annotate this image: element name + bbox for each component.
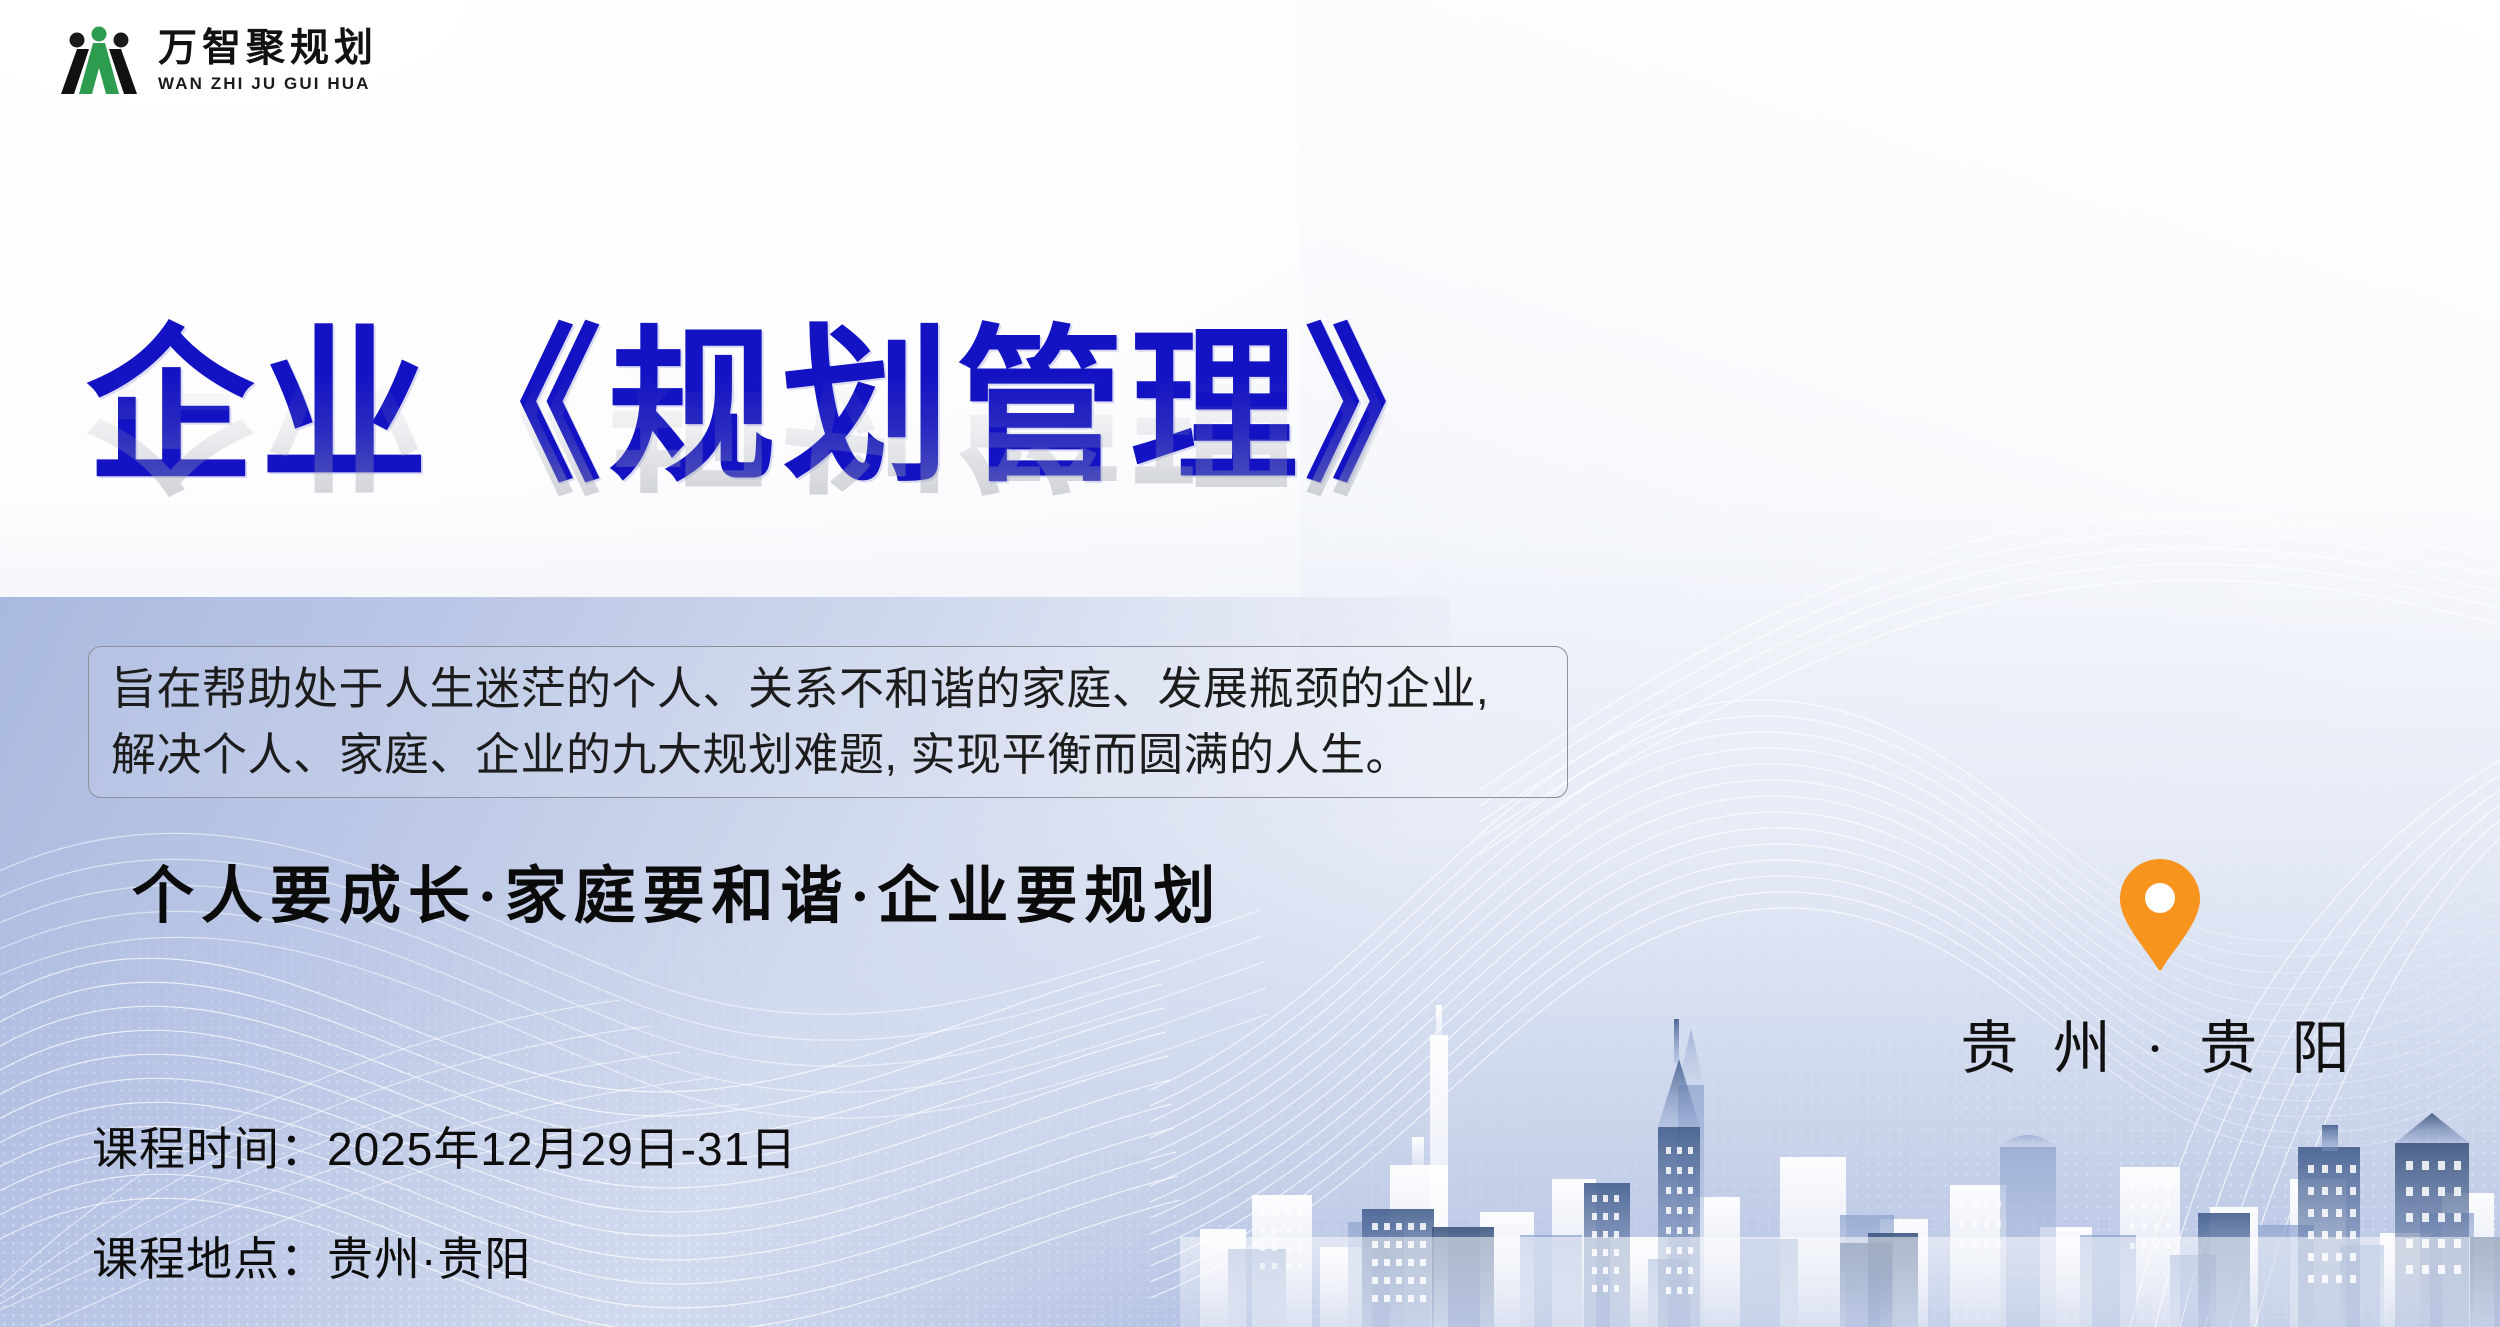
slogan-text: 个人要成长·家庭要和谐·企业要规划: [132, 845, 1222, 935]
course-info-block: 课程时间：2025年12月29日-31日 课程地点：贵州·贵阳: [92, 1113, 797, 1289]
map-pin-icon: [2115, 855, 2205, 973]
page-title-reflection: 企业《规划管理》: [86, 320, 1646, 498]
brand-name-cn: 万智聚规划: [158, 29, 378, 68]
description-box: 旨在帮助处于人生迷茫的个人、关系不和谐的家庭、发展瓶颈的企业, 解决个人、家庭、…: [88, 646, 1568, 798]
location-label: 贵 州 · 贵 阳: [1950, 1001, 2370, 1085]
description-line-2: 解决个人、家庭、企业的九大规划难题, 实现平衡而圆满的人生。: [111, 722, 1545, 788]
brand-logo[interactable]: 万智聚规划 WAN ZHI JU GUI HUA: [56, 22, 378, 98]
course-place: 课程地点：贵州·贵阳: [92, 1223, 797, 1289]
description-line-1: 旨在帮助处于人生迷茫的个人、关系不和谐的家庭、发展瓶颈的企业,: [111, 656, 1545, 722]
course-time: 课程时间：2025年12月29日-31日: [92, 1113, 797, 1179]
three-people-m-logo-icon: [56, 22, 142, 98]
brand-name-en: WAN ZHI JU GUI HUA: [158, 75, 378, 92]
brand-logo-text: 万智聚规划 WAN ZHI JU GUI HUA: [158, 29, 378, 92]
hero-title-block: 企业《规划管理》 企业《规划管理》: [86, 318, 1646, 676]
poster-canvas: 万智聚规划 WAN ZHI JU GUI HUA 企业《规划管理》 企业《规划管…: [0, 0, 2500, 1327]
location-block: 贵 州 · 贵 阳: [1950, 855, 2370, 1085]
